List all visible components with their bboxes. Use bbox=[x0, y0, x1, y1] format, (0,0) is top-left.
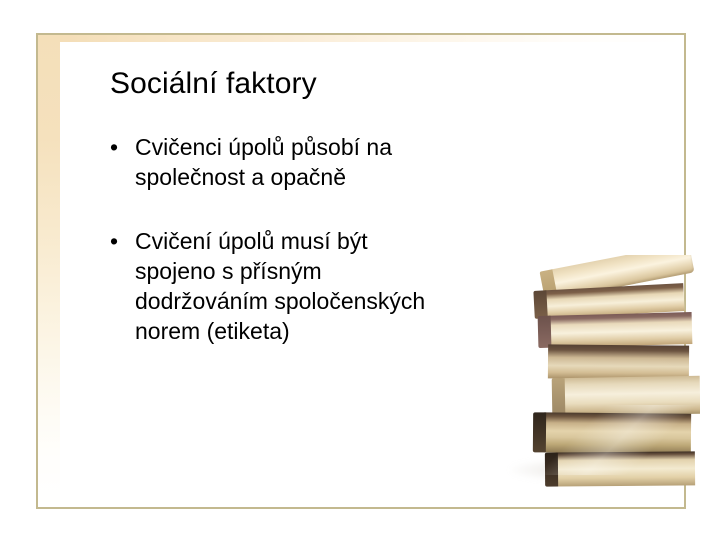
bullet-text-line: společnost a opačně bbox=[135, 162, 508, 192]
bullet-list: • Cvičenci úpolů působí na společnost a … bbox=[108, 132, 508, 346]
slide-title: Sociální faktory bbox=[110, 66, 317, 102]
book-pages bbox=[563, 376, 700, 416]
bullet-text-line: spojeno s přísným bbox=[135, 256, 508, 286]
book-item bbox=[533, 412, 691, 453]
bullet-text-line: dodržováním spoločenských bbox=[135, 286, 508, 316]
list-item: • Cvičení úpolů musí být spojeno s přísn… bbox=[108, 226, 508, 346]
book-spine bbox=[552, 378, 566, 416]
book-item bbox=[538, 312, 693, 348]
frame-accent-band-top bbox=[38, 35, 684, 42]
list-item: • Cvičenci úpolů působí na společnost a … bbox=[108, 132, 508, 192]
book-pages bbox=[544, 412, 691, 453]
book-item bbox=[545, 451, 695, 486]
stack-of-books-photo bbox=[505, 255, 700, 505]
slide-canvas: Sociální faktory • Cvičenci úpolů působí… bbox=[0, 0, 720, 540]
bullet-text-line: Cvičenci úpolů působí na bbox=[135, 132, 508, 162]
book-spine bbox=[533, 412, 546, 452]
frame-accent-band-left bbox=[38, 35, 60, 507]
bullet-text-line: norem (etiketa) bbox=[135, 316, 508, 346]
book-spine bbox=[538, 316, 552, 348]
book-spine bbox=[537, 344, 550, 378]
book-pages bbox=[549, 312, 693, 348]
bullet-text-line: Cvičení úpolů musí být bbox=[135, 226, 508, 256]
book-spine bbox=[533, 290, 547, 319]
book-spine bbox=[545, 453, 558, 487]
book-item bbox=[552, 376, 700, 417]
book-pages bbox=[548, 344, 689, 379]
book-pages bbox=[556, 451, 695, 486]
book-item bbox=[537, 344, 689, 379]
bullet-point-icon: • bbox=[110, 132, 118, 162]
bullet-point-icon: • bbox=[110, 226, 118, 256]
